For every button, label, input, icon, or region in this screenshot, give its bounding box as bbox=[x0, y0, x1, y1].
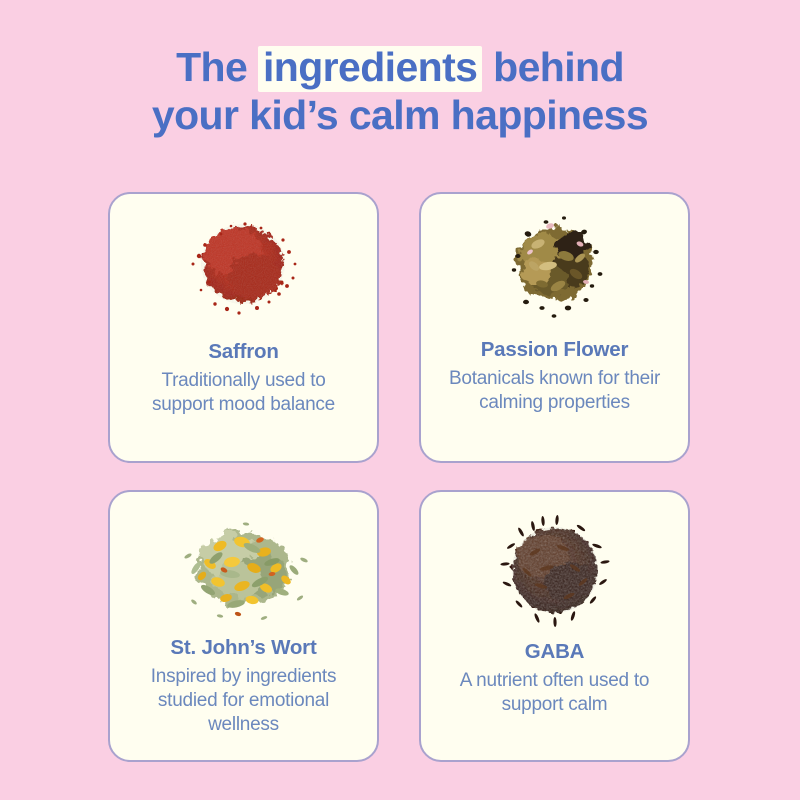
passion-flower-herb-image bbox=[480, 208, 630, 328]
card-description: A nutrient often used to support calm bbox=[447, 669, 662, 718]
gaba-granules-image bbox=[485, 512, 625, 632]
saffron-powder-image bbox=[169, 212, 319, 324]
card-title: GABA bbox=[525, 640, 585, 664]
card-title: Saffron bbox=[208, 340, 278, 364]
st-johns-wort-herb-image bbox=[160, 512, 328, 632]
card-title: Passion Flower bbox=[481, 338, 629, 362]
ingredient-card-st-johns-wort[interactable]: St. John’s Wort Inspired by ingredients … bbox=[108, 490, 379, 762]
page-title-highlight-ingredients: ingredients bbox=[258, 46, 482, 92]
card-description: Botanicals known for their calming prope… bbox=[447, 367, 662, 416]
ingredient-card-saffron[interactable]: Saffron Traditionally used to support mo… bbox=[108, 192, 379, 463]
ingredient-card-grid: Saffron Traditionally used to support mo… bbox=[108, 192, 690, 762]
page-title-line1-before: The bbox=[176, 44, 258, 90]
card-title: St. John’s Wort bbox=[170, 636, 316, 660]
page-title-line-1: The ingredients behind bbox=[0, 44, 800, 92]
card-description: Traditionally used to support mood balan… bbox=[136, 369, 351, 418]
page-title-line-2: your kid’s calm happiness bbox=[0, 92, 800, 140]
ingredient-card-passion-flower[interactable]: Passion Flower Botanicals known for thei… bbox=[419, 192, 690, 463]
card-description: Inspired by ingredients studied for emot… bbox=[136, 665, 351, 738]
page-title: The ingredients behind your kid’s calm h… bbox=[0, 44, 800, 139]
page-title-line1-after: behind bbox=[482, 44, 624, 90]
ingredient-card-gaba[interactable]: GABA A nutrient often used to support ca… bbox=[419, 490, 690, 762]
